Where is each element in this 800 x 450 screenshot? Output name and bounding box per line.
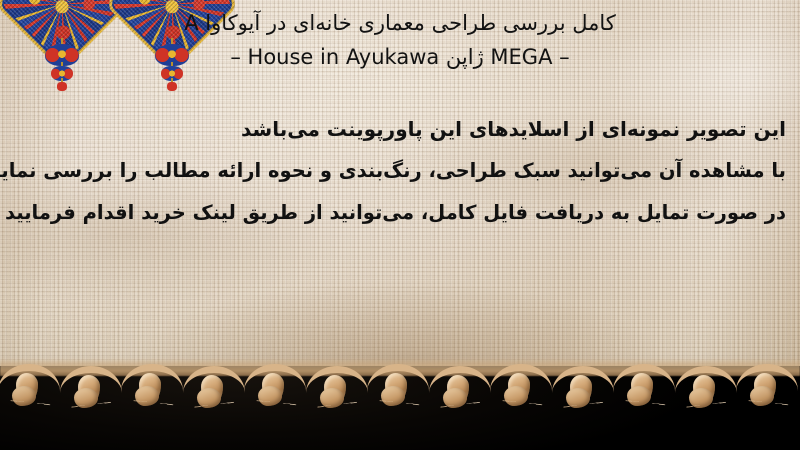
carpet-fringe-tassel: [121, 360, 183, 450]
slide-canvas: کامل بررسی طراحی معماری خانه‌ای در آیوکا…: [0, 0, 800, 450]
body-line-2: با مشاهده آن می‌توانید سبک طراحی، رنگ‌بن…: [0, 150, 786, 192]
carpet-fringe-tassel: [0, 360, 60, 450]
body-line-1: این تصویر نمونه‌ای از اسلایدهای این پاور…: [0, 108, 786, 150]
carpet-fringe-tassel: [490, 360, 552, 450]
carpet-fringe-tassel: [244, 360, 306, 450]
slide-body: این تصویر نمونه‌ای از اسلایدهای این پاور…: [0, 108, 786, 234]
carpet-fringe-tassel: [429, 362, 491, 450]
title-line-1: کامل بررسی طراحی معماری خانه‌ای در آیوکا…: [0, 6, 800, 40]
carpet-fringe-tassel: [367, 360, 429, 450]
carpet-fringe-tassel: [306, 362, 368, 450]
carpet-fringe-tassel: [613, 360, 675, 450]
carpet-fringe-tassel: [60, 362, 122, 450]
body-line-3: در صورت تمایل به دریافت فایل کامل، می‌تو…: [0, 192, 786, 234]
carpet-fringe-row: [0, 360, 800, 450]
carpet-fringe-tassel: [552, 362, 614, 450]
carpet-fringe-tassel: [675, 362, 737, 450]
carpet-fringe-tassel: [736, 360, 798, 450]
carpet-fringe-tassel: [183, 362, 245, 450]
slide-title: کامل بررسی طراحی معماری خانه‌ای در آیوکا…: [0, 6, 800, 74]
title-line-2: – MEGA ژاپن House in Ayukawa –: [0, 40, 800, 74]
